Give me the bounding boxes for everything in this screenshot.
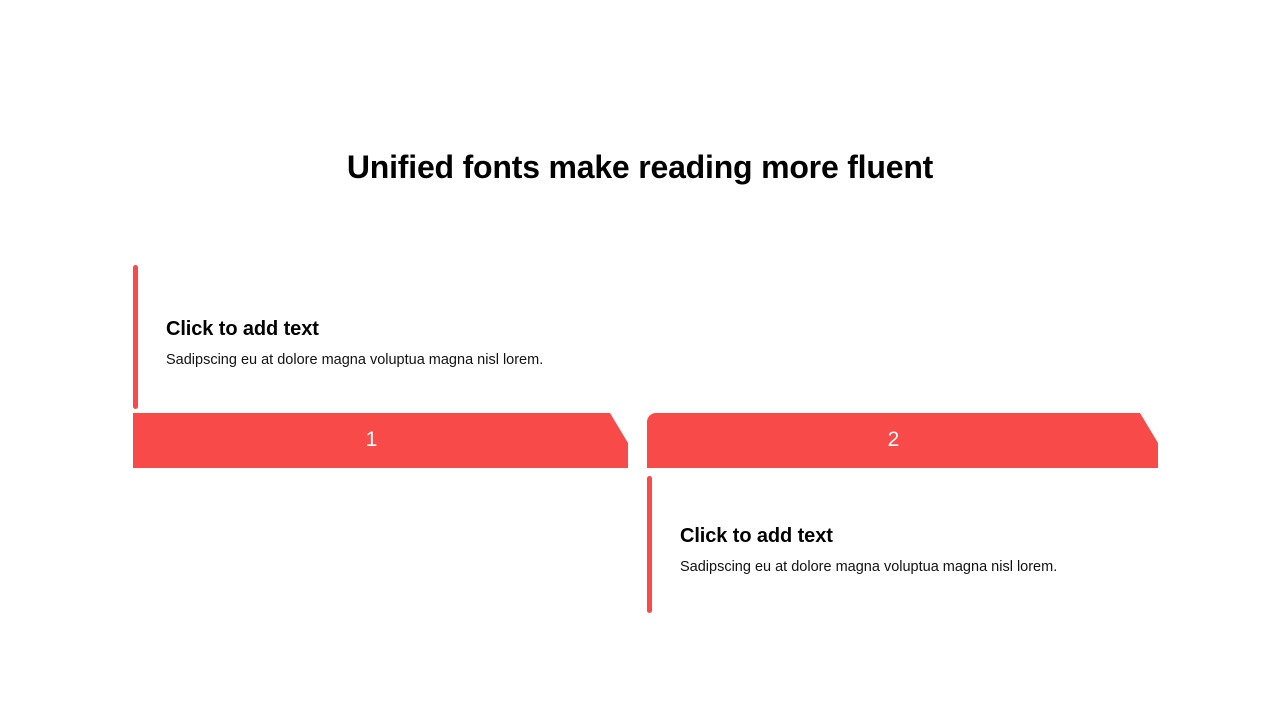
content-block-2-description[interactable]: Sadipscing eu at dolore magna voluptua m… [680, 558, 1160, 578]
presentation-slide: Unified fonts make reading more fluent C… [0, 0, 1280, 720]
content-block-1[interactable]: Click to add text Sadipscing eu at dolor… [133, 265, 653, 409]
numbered-banner-row: 1 2 [133, 413, 1158, 468]
slide-title[interactable]: Unified fonts make reading more fluent [128, 148, 1152, 187]
content-block-2-heading[interactable]: Click to add text [680, 524, 1160, 549]
accent-rule-left-2 [647, 476, 652, 613]
numbered-banner-2[interactable]: 2 [647, 413, 1158, 468]
numbered-banner-2-label: 2 [888, 429, 900, 450]
content-block-1-heading[interactable]: Click to add text [166, 317, 646, 342]
numbered-banner-1-label: 1 [366, 429, 378, 450]
content-block-1-description[interactable]: Sadipscing eu at dolore magna voluptua m… [166, 351, 646, 371]
accent-rule-left-1 [133, 265, 138, 409]
content-block-2[interactable]: Click to add text Sadipscing eu at dolor… [647, 476, 1167, 613]
numbered-banner-1[interactable]: 1 [133, 413, 628, 468]
content-block-1-body: Click to add text Sadipscing eu at dolor… [166, 317, 646, 371]
content-block-2-body: Click to add text Sadipscing eu at dolor… [680, 524, 1160, 578]
